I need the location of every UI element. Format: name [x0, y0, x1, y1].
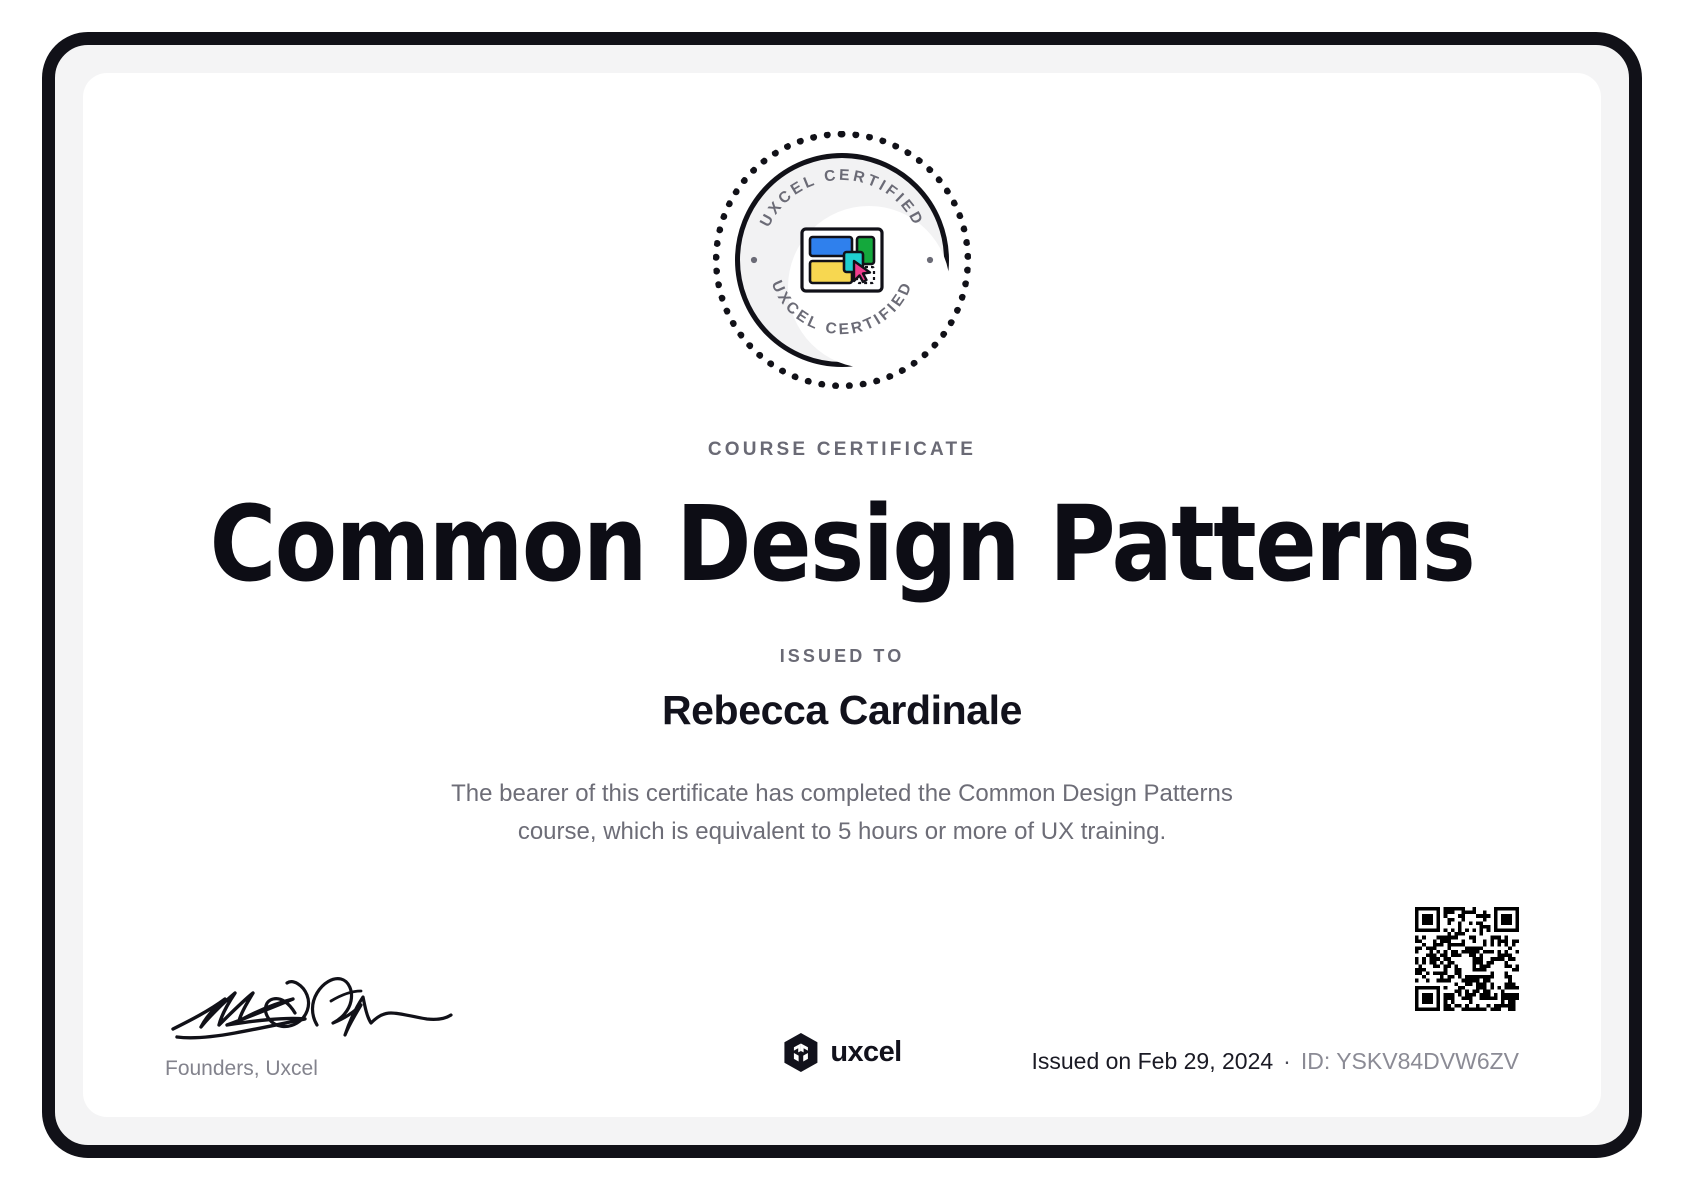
signature-caption: Founders, Uxcel	[165, 1057, 505, 1081]
certificate-meta: Issued on Feb 29, 2024 · ID: YSKV84DVW6Z…	[1031, 1048, 1519, 1075]
uxcel-logo-icon	[782, 1032, 819, 1073]
seal-dot-right	[927, 257, 933, 263]
design-patterns-icon	[800, 227, 884, 293]
certificate-frame: UXCEL CERTIFIED UXCEL CERTIFIED	[42, 32, 1642, 1158]
founders-signature	[165, 961, 455, 1047]
logo-hexagon	[784, 1033, 817, 1072]
certification-seal: UXCEL CERTIFIED UXCEL CERTIFIED	[713, 131, 971, 389]
signature-stroke-third	[313, 979, 452, 1035]
signature-block: Founders, Uxcel	[165, 961, 505, 1081]
recipient-name: Rebecca Cardinale	[83, 687, 1601, 734]
meta-separator: ·	[1283, 1048, 1291, 1075]
certificate-body: UXCEL CERTIFIED UXCEL CERTIFIED	[83, 73, 1601, 1117]
page-kicker: COURSE CERTIFICATE	[83, 439, 1601, 461]
issued-on-date: Issued on Feb 29, 2024	[1031, 1048, 1273, 1075]
certificate-description: The bearer of this certificate has compl…	[442, 775, 1242, 851]
qr-code-icon[interactable]	[1415, 907, 1519, 1011]
brand-name: uxcel	[830, 1036, 901, 1069]
brand-block: uxcel	[782, 1032, 901, 1073]
signature-stroke-cross	[331, 991, 361, 1001]
certificate-id: ID: YSKV84DVW6ZV	[1301, 1048, 1519, 1075]
issued-to-label: ISSUED TO	[83, 646, 1601, 667]
page-title: Common Design Patterns	[106, 483, 1578, 606]
seal-dot-left	[751, 257, 757, 263]
